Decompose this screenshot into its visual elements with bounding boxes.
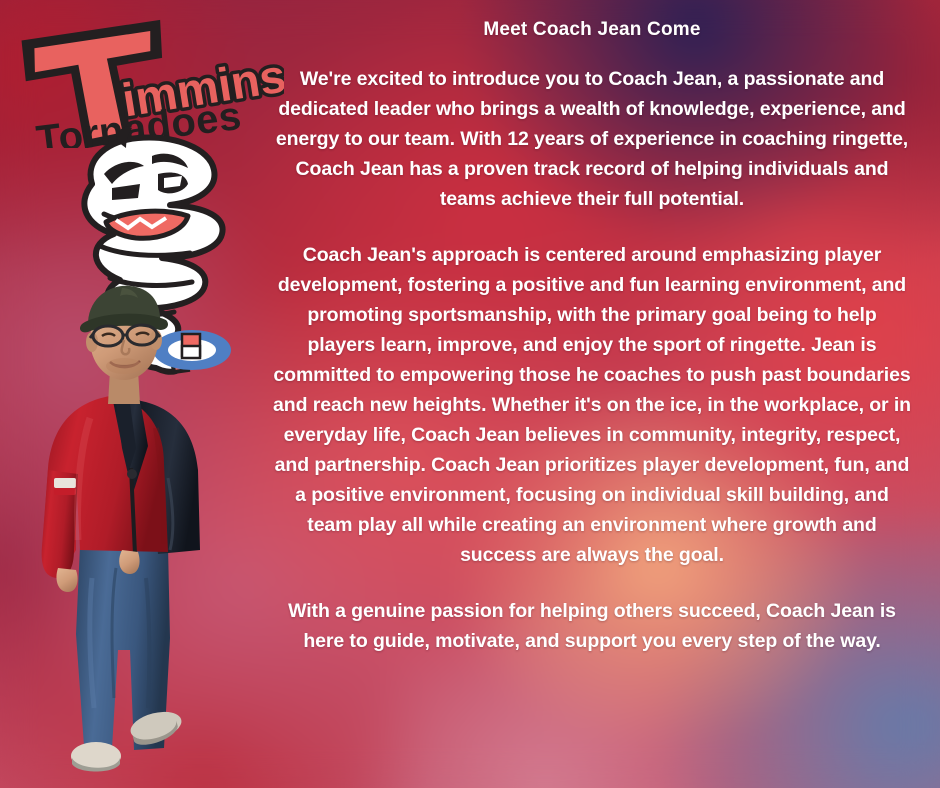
closing-paragraph: With a genuine passion for helping other… [272,596,912,656]
intro-paragraph: We're excited to introduce you to Coach … [272,64,912,214]
approach-paragraph: Coach Jean's approach is centered around… [272,240,912,570]
page-title: Meet Coach Jean Come [272,18,912,42]
poster-canvas: immins immins Tornadoes [0,0,940,788]
left-graphics-column: immins immins Tornadoes [0,0,290,788]
coach-jean-photo [18,278,228,788]
content-column: Meet Coach Jean Come We're excited to in… [262,0,922,788]
